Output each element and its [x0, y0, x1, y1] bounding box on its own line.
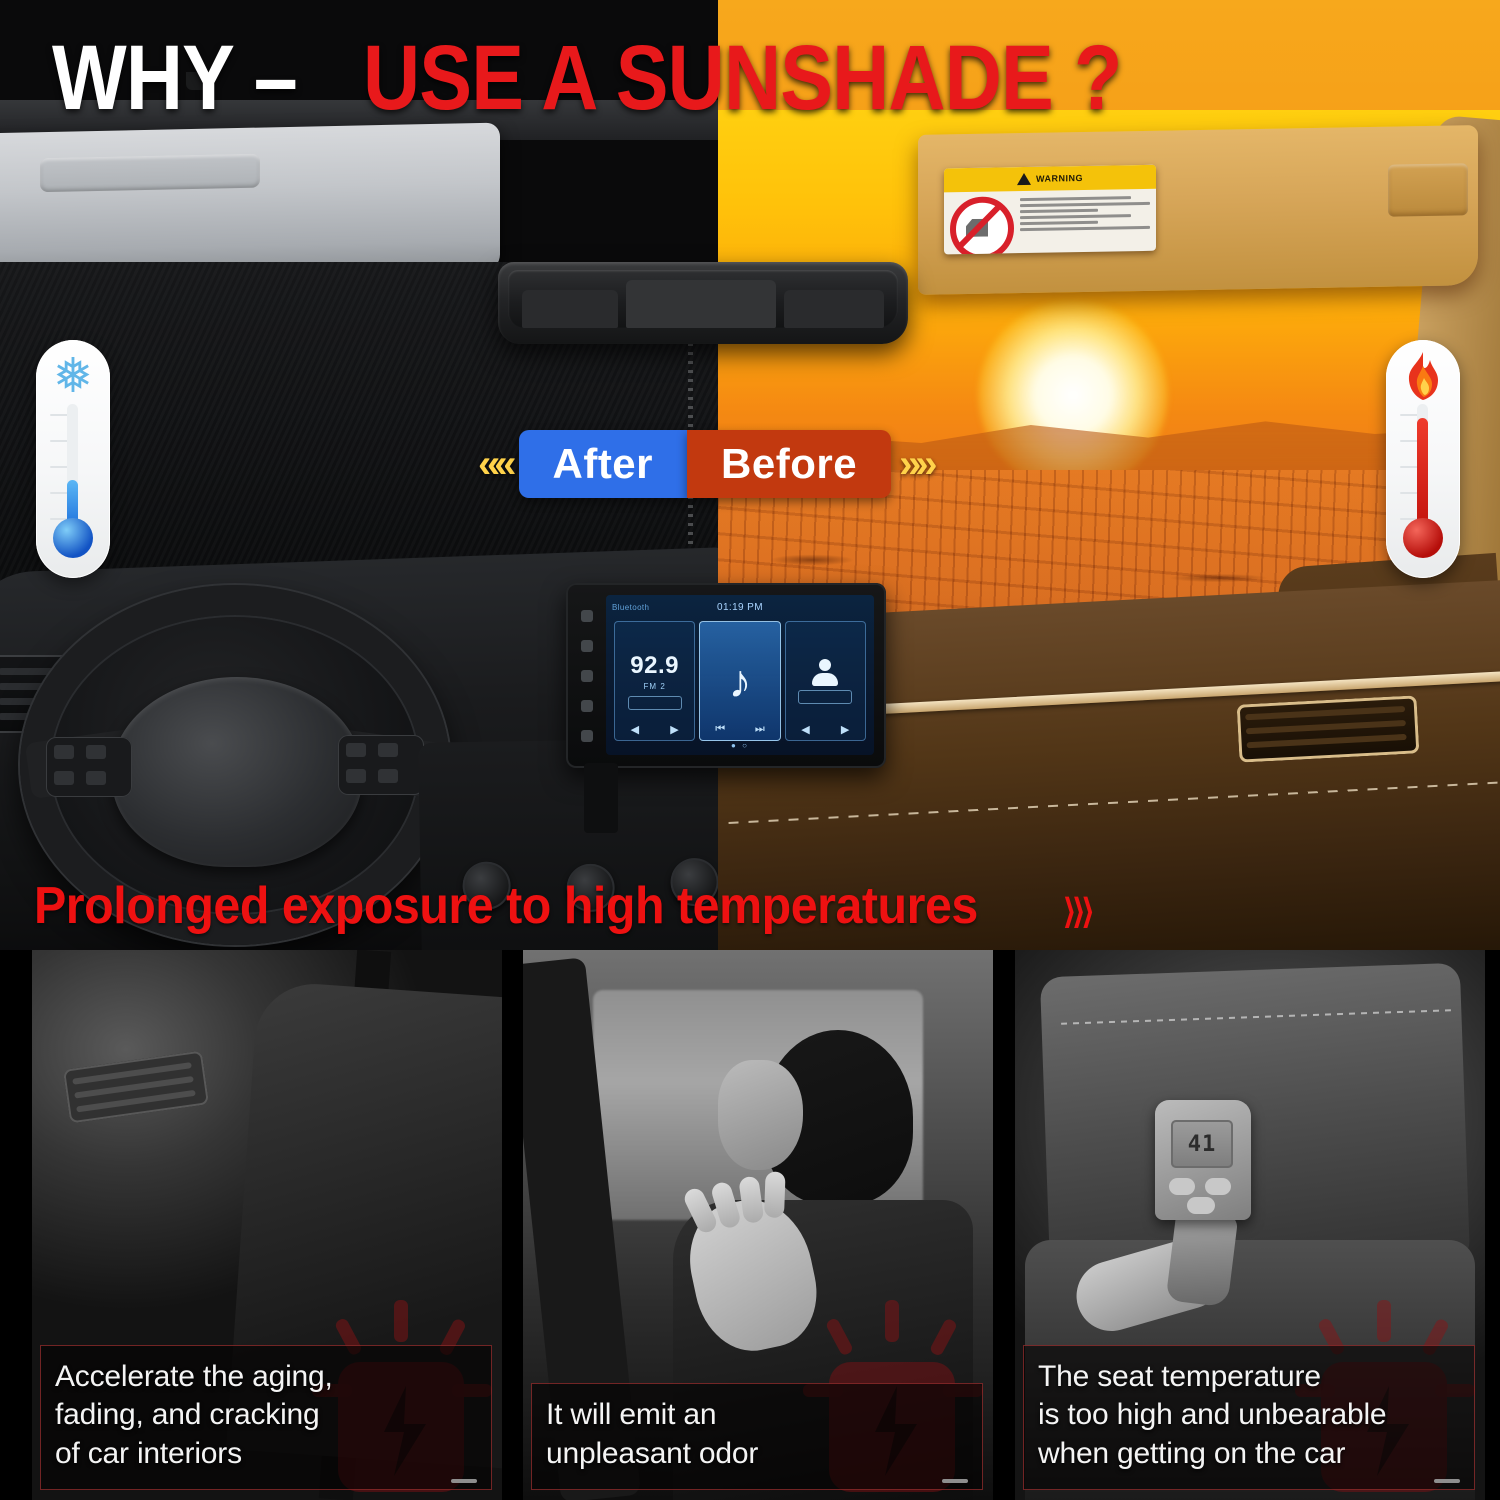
warning-label-body	[944, 189, 1156, 255]
warning-label-header: WARNING	[944, 165, 1156, 193]
cold-thermometer: ❅	[36, 340, 110, 578]
profile-prev-icon[interactable]: ◀	[801, 723, 809, 736]
caption-underscore-mark	[942, 1479, 968, 1483]
caption-text: Accelerate the aging, fading, and cracki…	[55, 1358, 477, 1473]
caption-box: It will emit an unpleasant odor	[531, 1383, 983, 1490]
head-unit-clock: 01:19 PM	[717, 602, 763, 613]
radio-preset-chip[interactable]	[628, 696, 682, 710]
profile-nav-controls[interactable]: ◀ ▶	[786, 723, 865, 736]
profile-chip[interactable]	[798, 690, 852, 704]
tagline: Prolonged exposure to high temperatures …	[34, 876, 1091, 936]
headline-white: WHY –	[52, 32, 297, 124]
before-after-hero: WARNING	[0, 0, 1500, 950]
head-unit-tiles: 92.9 FM 2 ◀ ▶ ♪ ⏮ ⏭	[614, 621, 866, 741]
thermometer-bulb-cold	[53, 518, 93, 558]
tile-radio[interactable]: 92.9 FM 2 ◀ ▶	[614, 621, 695, 741]
thermometer-button-right[interactable]	[1205, 1178, 1231, 1195]
before-badge[interactable]: Before	[687, 430, 891, 498]
steering-buttons-right	[338, 735, 424, 795]
radio-next-icon[interactable]: ▶	[670, 723, 678, 736]
rearview-mirror	[498, 262, 908, 344]
product-infographic: WARNING	[0, 0, 1500, 1500]
person-face	[718, 1060, 803, 1170]
chevron-right-icon: »»	[891, 430, 940, 498]
head-unit-button-eject[interactable]	[581, 730, 593, 742]
steering-buttons-left	[46, 737, 132, 797]
benefit-panels: Accelerate the aging, fading, and cracki…	[0, 950, 1500, 1500]
panel-unpleasant-odor: It will emit an unpleasant odor	[523, 950, 993, 1500]
media-transport-controls[interactable]: ⏮ ⏭	[700, 723, 779, 736]
profile-next-icon[interactable]: ▶	[841, 723, 849, 736]
visor-slot	[1388, 163, 1468, 216]
head-unit-status-left: Bluetooth	[612, 603, 649, 612]
before-after-toggle[interactable]: «« After Before »»	[470, 430, 940, 498]
after-badge[interactable]: After	[519, 430, 688, 498]
flame-icon	[1400, 350, 1446, 406]
radio-frequency: 92.9	[630, 652, 679, 680]
head-unit-button-apps[interactable]	[581, 700, 593, 712]
airbag-hub	[112, 677, 362, 867]
media-prev-icon[interactable]: ⏮	[715, 723, 725, 736]
visor-warning-label: WARNING	[944, 165, 1156, 255]
caption-text: The seat temperature is too high and unb…	[1038, 1358, 1460, 1473]
infotainment-head-unit[interactable]: Bluetooth 01:19 PM 92.9 FM 2 ◀ ▶ ♪	[566, 583, 886, 768]
caption-box: The seat temperature is too high and unb…	[1023, 1345, 1475, 1490]
caption-underscore-mark	[1434, 1479, 1460, 1483]
thermometer-bulb-hot	[1403, 518, 1443, 558]
thermometer-button-mode[interactable]	[1187, 1197, 1215, 1214]
warning-label-text-lines	[1020, 194, 1150, 255]
head-unit-side-buttons[interactable]	[574, 601, 600, 751]
tagline-chevrons-icon: ⟩⟩⟩	[1063, 892, 1091, 932]
headline-red: USE A SUNSHADE ?	[363, 32, 1121, 124]
head-unit-button-home[interactable]	[581, 640, 593, 652]
caption-box: Accelerate the aging, fading, and cracki…	[40, 1345, 492, 1490]
head-unit-status-bar: Bluetooth 01:19 PM	[606, 599, 874, 615]
head-unit-button-volume[interactable]	[581, 670, 593, 682]
hot-thermometer	[1386, 340, 1460, 578]
snowflake-icon: ❅	[48, 352, 98, 402]
radio-seek-controls[interactable]: ◀ ▶	[615, 723, 694, 736]
mirror-reflection-seat-left	[522, 290, 618, 328]
head-unit-button-power[interactable]	[581, 610, 593, 622]
panel-interior-aging: Accelerate the aging, fading, and cracki…	[32, 950, 502, 1500]
radio-band: FM 2	[644, 682, 666, 691]
rearview-mirror-glass	[508, 270, 898, 328]
head-unit-mount	[584, 763, 618, 833]
media-next-icon[interactable]: ⏭	[755, 723, 765, 736]
mirror-reflection-seat-right	[784, 290, 884, 328]
head-unit-page-dots: ● ○	[606, 741, 874, 750]
infrared-thermometer: 41	[1145, 1100, 1260, 1300]
radio-prev-icon[interactable]: ◀	[631, 723, 639, 736]
thermometer-grip	[1166, 1209, 1239, 1308]
head-unit-screen[interactable]: Bluetooth 01:19 PM 92.9 FM 2 ◀ ▶ ♪	[606, 595, 874, 755]
dashboard-vent-icon	[63, 1051, 209, 1124]
thermometer-button-left[interactable]	[1169, 1178, 1195, 1195]
sun-visor-cool	[0, 123, 500, 282]
driver-profile-icon	[812, 659, 838, 685]
air-vent-warm	[1237, 695, 1420, 762]
music-note-icon: ♪	[728, 658, 751, 704]
thermometer-display: 41	[1171, 1120, 1233, 1168]
mirror-reflection-seat-mid	[626, 280, 776, 328]
panel-seat-temperature: 41 The seat temperat	[1015, 950, 1485, 1500]
page-title: WHY – USE A SUNSHADE ?	[52, 32, 1245, 124]
thermometer-reading: 41	[1188, 1132, 1217, 1157]
tile-profile[interactable]: ◀ ▶	[785, 621, 866, 741]
sun-visor-warm: WARNING	[918, 125, 1478, 295]
warning-triangle-icon	[1017, 173, 1031, 185]
warning-label-title: WARNING	[1036, 173, 1083, 184]
caption-underscore-mark	[451, 1479, 477, 1483]
tile-media[interactable]: ♪ ⏮ ⏭	[699, 621, 780, 741]
caption-text: It will emit an unpleasant odor	[546, 1396, 968, 1473]
tagline-text: Prolonged exposure to high temperatures	[34, 876, 978, 936]
no-child-seat-icon	[950, 196, 1014, 254]
chevron-left-icon: ««	[470, 430, 519, 498]
